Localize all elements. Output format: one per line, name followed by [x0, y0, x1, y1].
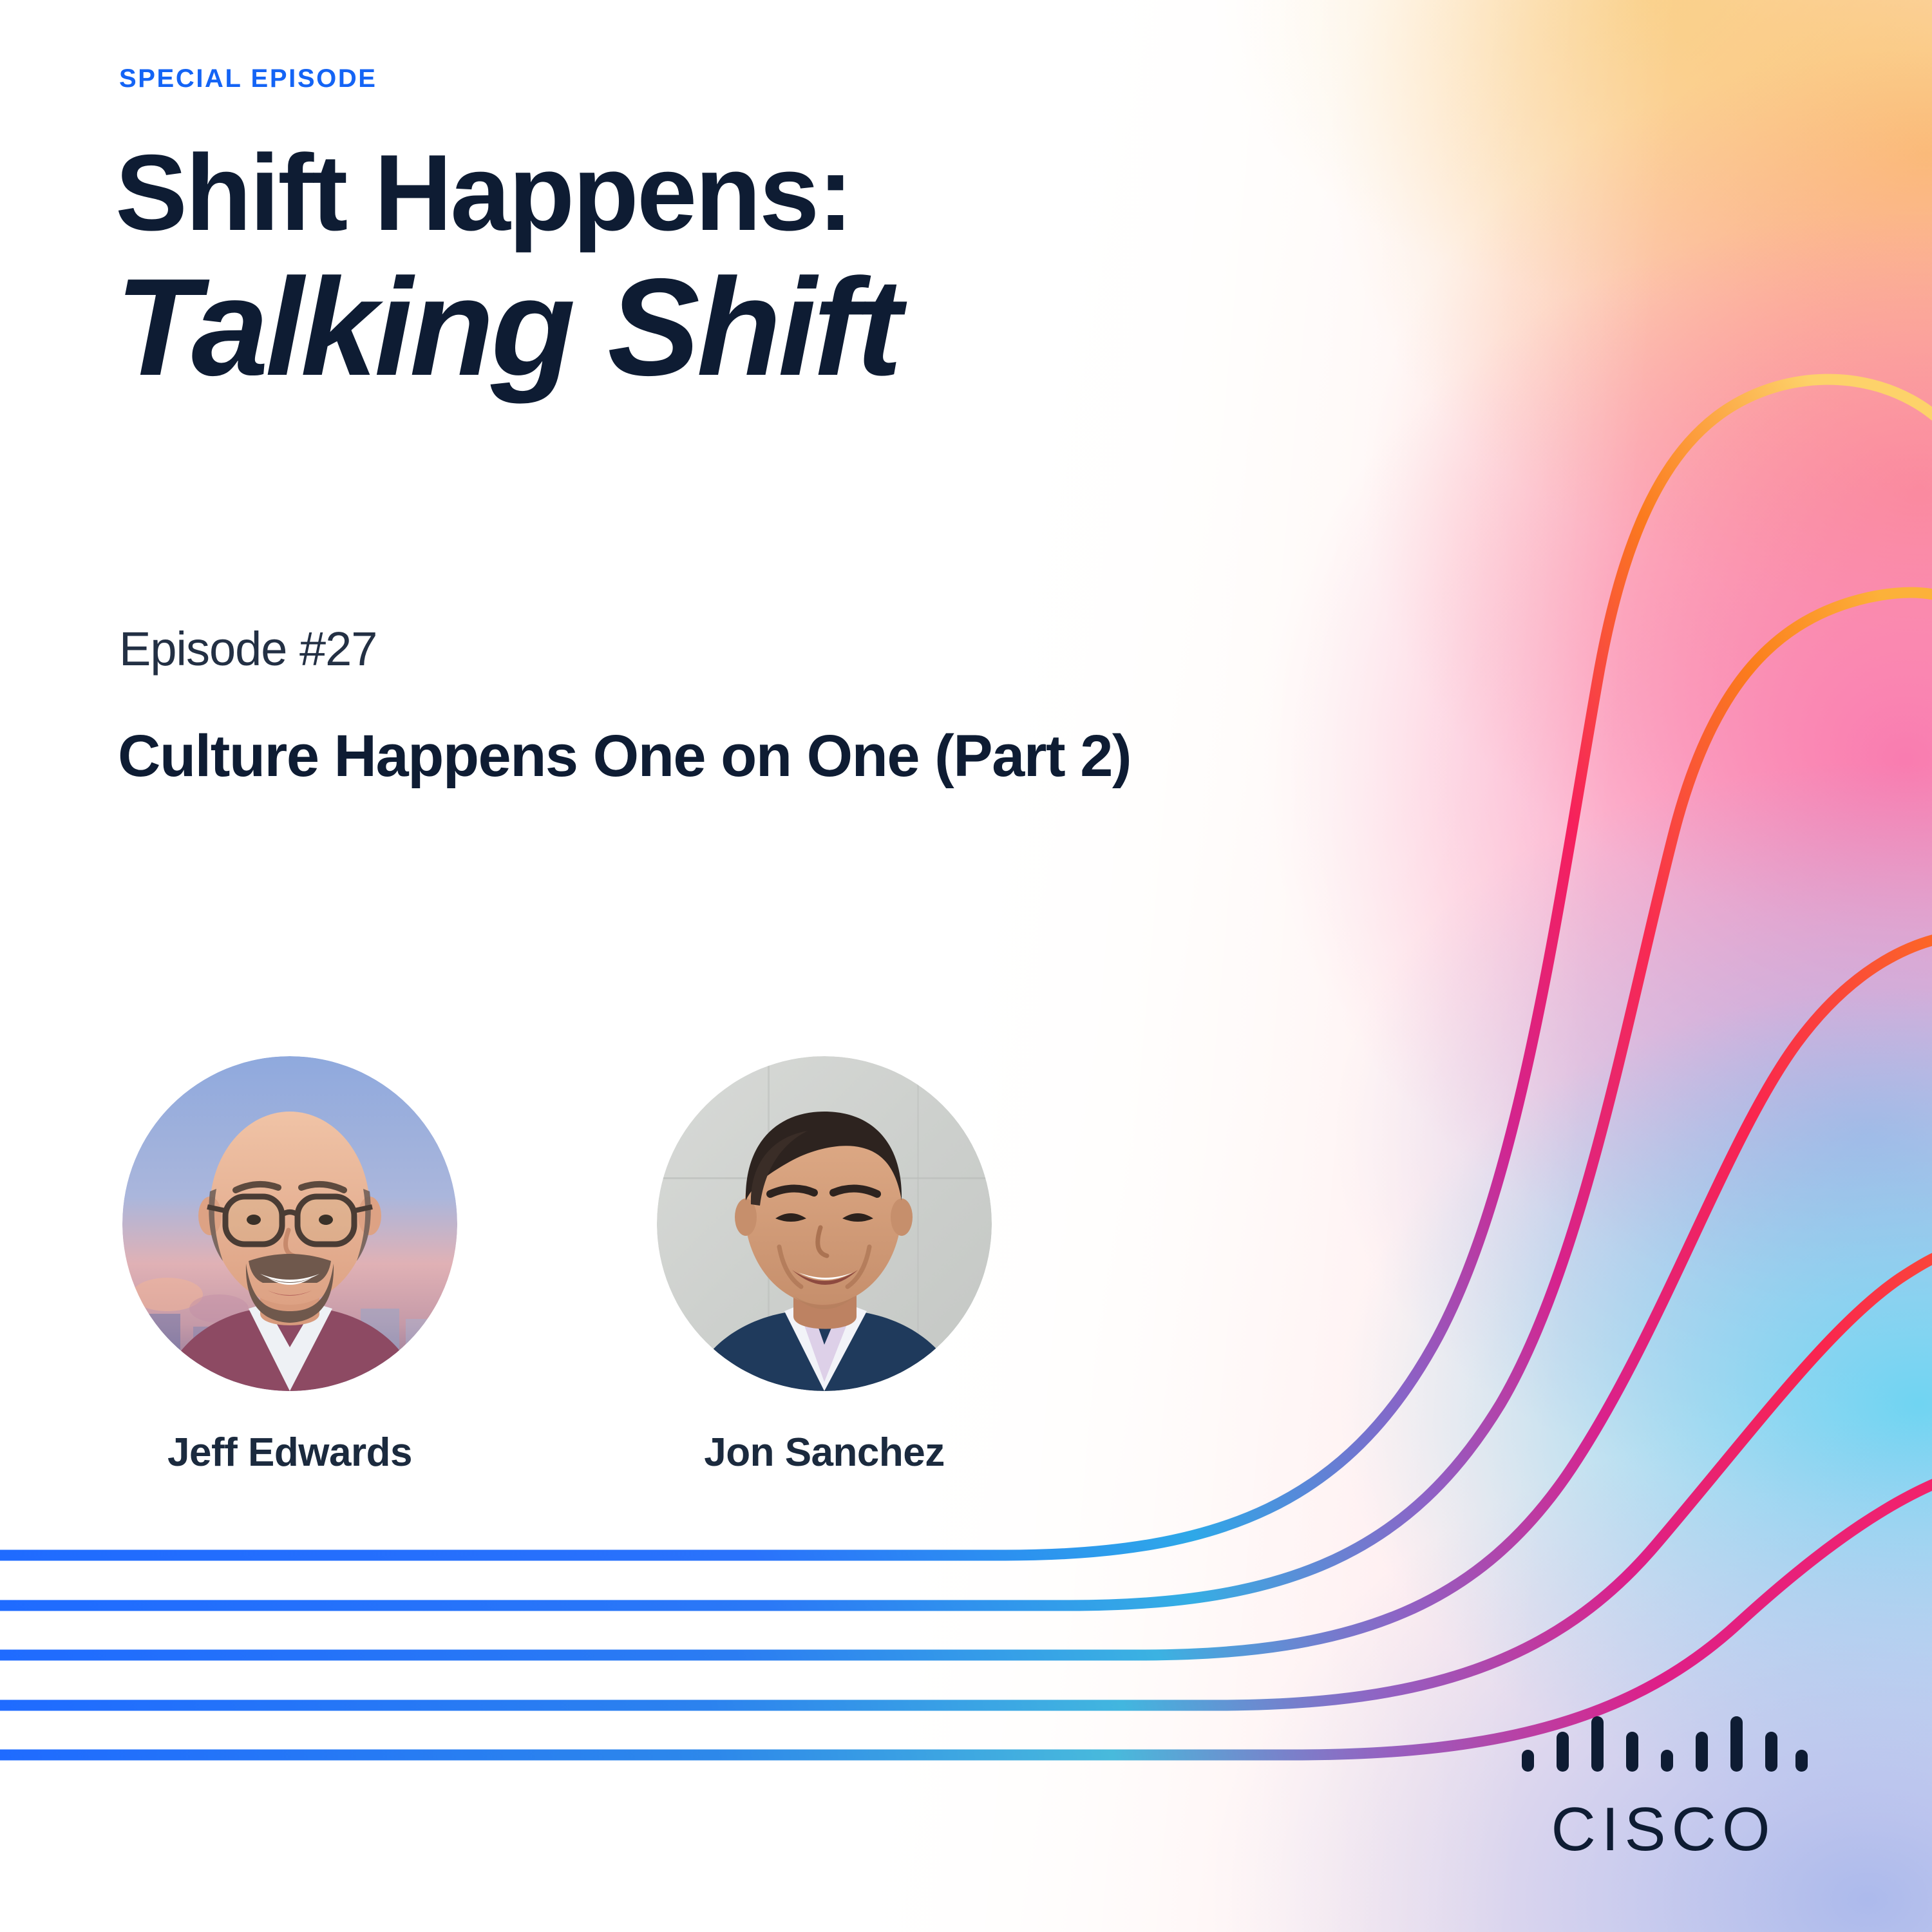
episode-number: Episode #27: [119, 621, 377, 676]
host-name: Jeff Edwards: [119, 1430, 460, 1475]
host-jon-sanchez: Jon Sanchez: [654, 1056, 995, 1475]
cisco-bridge-icon: CISCO: [1517, 1710, 1813, 1871]
host-jeff-edwards: Jeff Edwards: [119, 1056, 460, 1475]
episode-title: Culture Happens One on One (Part 2): [118, 721, 1444, 791]
host-name: Jon Sanchez: [654, 1430, 995, 1475]
text-column: SPECIAL EPISODE Shift Happens: Talking S…: [119, 0, 1536, 1932]
headshot-jeff-edwards-icon: [122, 1056, 457, 1391]
avatar: [122, 1056, 457, 1391]
cisco-wordmark: CISCO: [1551, 1795, 1776, 1864]
show-title-line-2: Talking Shift: [115, 251, 899, 404]
podcast-cover-art: SPECIAL EPISODE Shift Happens: Talking S…: [0, 0, 1932, 1932]
headshot-jon-sanchez-icon: [657, 1056, 992, 1391]
special-episode-eyebrow: SPECIAL EPISODE: [119, 64, 377, 93]
show-title-line-1: Shift Happens:: [115, 138, 851, 247]
cisco-logo: CISCO: [1517, 1710, 1813, 1871]
avatar: [657, 1056, 992, 1391]
